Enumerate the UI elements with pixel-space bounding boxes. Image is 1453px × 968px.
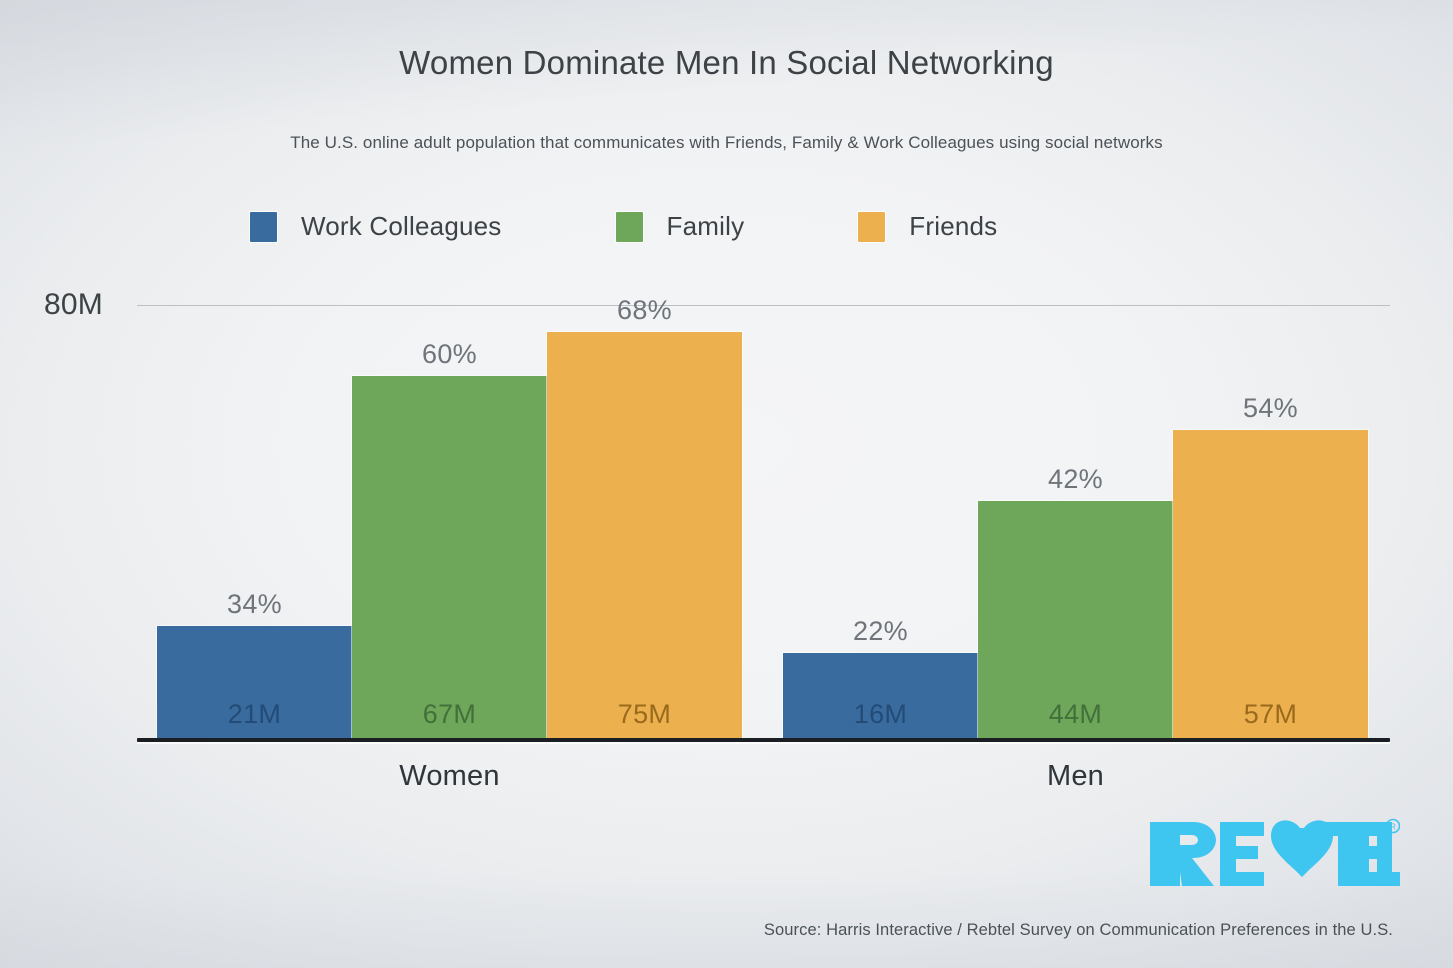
bar-percent-label: 22%: [783, 616, 978, 647]
bar[interactable]: 75M: [547, 332, 742, 740]
bar-value-label: 75M: [547, 699, 742, 730]
bar-value-label: 21M: [157, 699, 352, 730]
plot-area: 21M34%67M60%75M68%16M22%44M42%57M54%: [137, 305, 1390, 740]
legend-label-work-colleagues: Work Colleagues: [301, 211, 502, 242]
legend-swatch-family: [616, 212, 643, 242]
bar-value-label: 44M: [978, 699, 1173, 730]
bar-value-label: 16M: [783, 699, 978, 730]
bar[interactable]: 57M: [1173, 430, 1368, 740]
bar-percent-label: 54%: [1173, 393, 1368, 424]
legend-swatch-friends: [858, 212, 885, 242]
legend-label-family: Family: [667, 211, 745, 242]
bar-value-label: 57M: [1173, 699, 1368, 730]
bar[interactable]: 16M: [783, 653, 978, 740]
svg-text:R: R: [1390, 823, 1396, 832]
chart-subtitle: The U.S. online adult population that co…: [0, 133, 1453, 153]
bar-percent-label: 34%: [157, 589, 352, 620]
bar-percent-label: 60%: [352, 339, 547, 370]
legend-item-work-colleagues[interactable]: Work Colleagues: [250, 211, 502, 242]
chart-canvas: Women Dominate Men In Social Networking …: [0, 0, 1453, 968]
chart-title: Women Dominate Men In Social Networking: [0, 44, 1453, 82]
gridline-80m: [137, 305, 1390, 306]
legend-label-friends: Friends: [909, 211, 997, 242]
category-label-men: Men: [876, 760, 1276, 793]
bar[interactable]: 67M: [352, 376, 547, 740]
bar[interactable]: 21M: [157, 626, 352, 740]
rebtel-logo: R: [1148, 818, 1400, 890]
legend-item-friends[interactable]: Friends: [858, 211, 997, 242]
legend-item-family[interactable]: Family: [616, 211, 745, 242]
bar-percent-label: 68%: [547, 295, 742, 326]
x-axis-baseline: [137, 738, 1390, 742]
category-label-women: Women: [250, 760, 650, 793]
chart-legend: Work Colleagues Family Friends: [250, 211, 997, 242]
y-axis-tick-80m: 80M: [44, 288, 103, 322]
source-note: Source: Harris Interactive / Rebtel Surv…: [764, 921, 1393, 940]
bar[interactable]: 44M: [978, 501, 1173, 740]
legend-swatch-work-colleagues: [250, 212, 277, 242]
bar-value-label: 67M: [352, 699, 547, 730]
bar-percent-label: 42%: [978, 464, 1173, 495]
